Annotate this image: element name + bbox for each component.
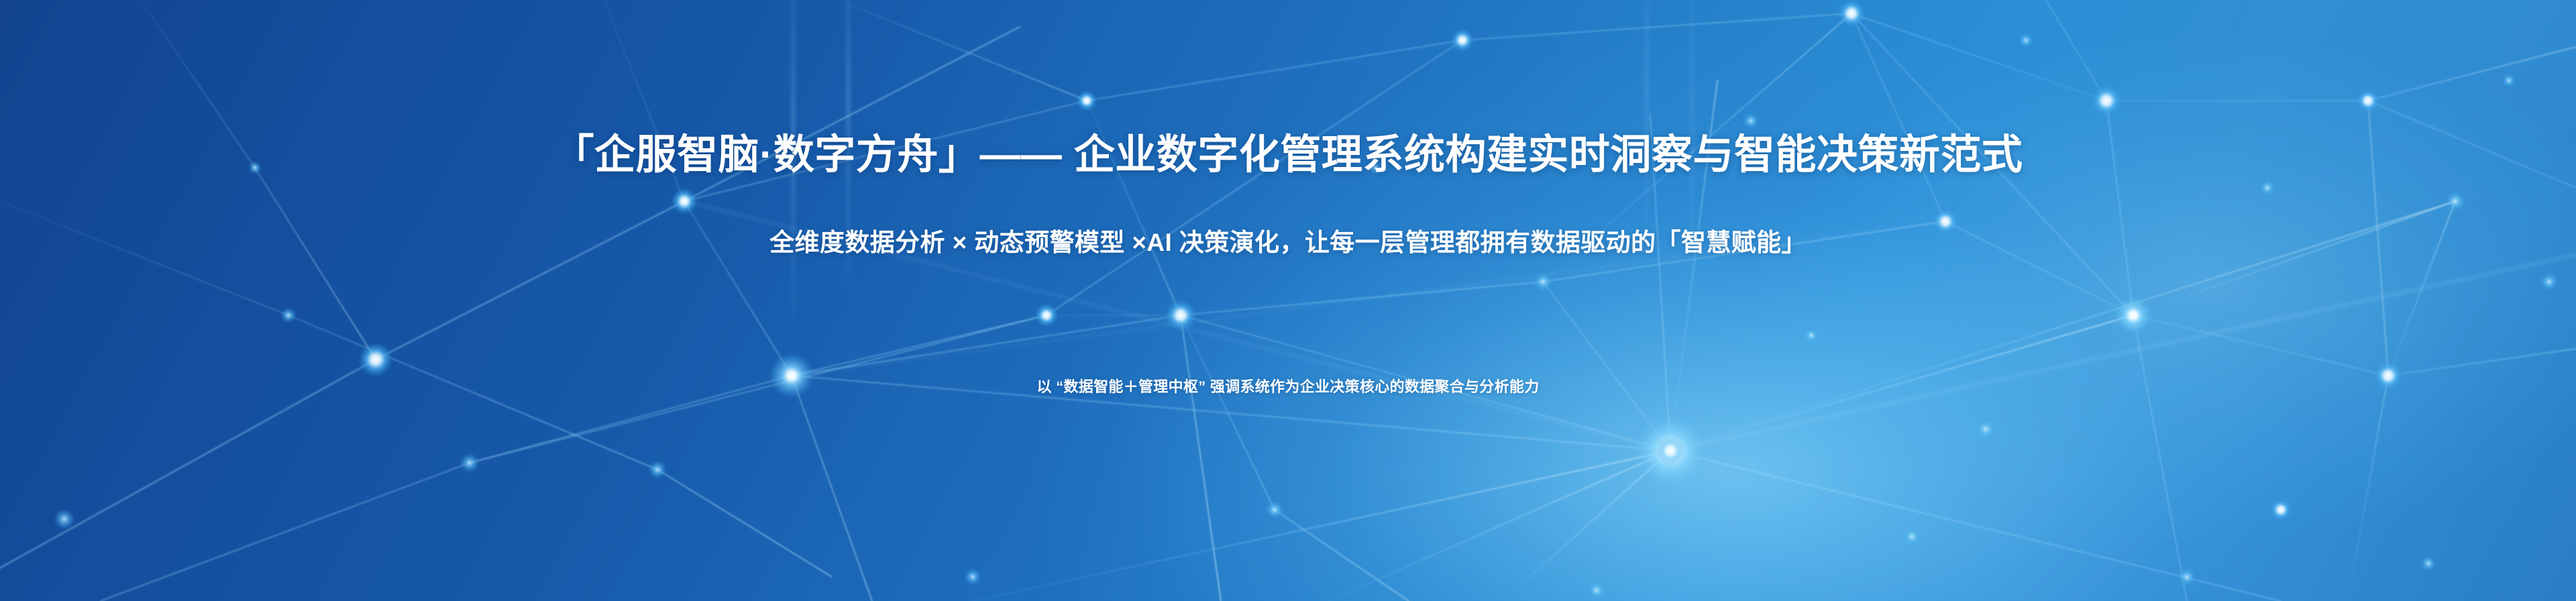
banner-headline: 「企服智脑·数字方舟」—— 企业数字化管理系统构建实时洞察与智能决策新范式 xyxy=(0,131,2576,177)
banner-caption: 以 “数据智能＋管理中枢” 强调系统作为企业决策核心的数据聚合与分析能力 xyxy=(0,378,2576,397)
banner-subheadline: 全维度数据分析 × 动态预警模型 ×AI 决策演化，让每一层管理都拥有数据驱动的… xyxy=(0,228,2576,258)
hero-banner: 「企服智脑·数字方舟」—— 企业数字化管理系统构建实时洞察与智能决策新范式 全维… xyxy=(0,0,2576,601)
banner-content: 「企服智脑·数字方舟」—— 企业数字化管理系统构建实时洞察与智能决策新范式 全维… xyxy=(0,0,2576,601)
